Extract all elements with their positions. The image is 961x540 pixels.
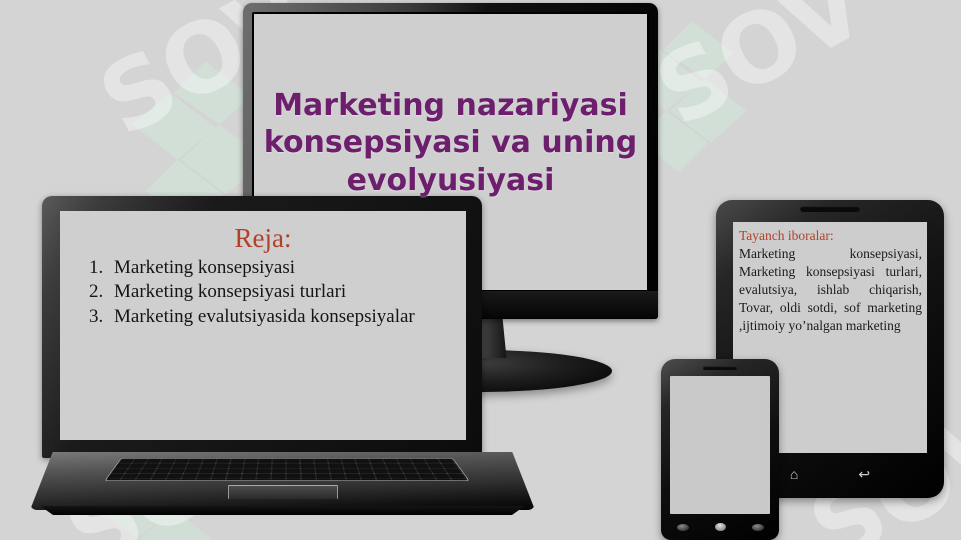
laptop-front-edge [33,506,532,515]
list-item: Marketing konsepsiyasi [108,256,452,280]
phone-navigation-bar [661,520,779,534]
phone-screen [670,376,770,514]
tayanch-heading: Tayanch iboralar: [739,228,922,244]
tablet-speaker [800,206,860,212]
laptop-trackpad[interactable] [228,485,338,499]
back-icon[interactable]: ↩ [858,467,870,481]
back-button[interactable] [752,524,764,531]
list-item: Marketing evalutsiyasida konsepsiyalar [108,305,452,329]
list-item: Marketing konsepsiyasi turlari [108,280,452,304]
reja-list: Marketing konsepsiyasi Marketing konseps… [74,256,452,329]
phone-speaker [703,366,737,370]
slide-canvas: SOV SOV SOV SOV Marketing nazariyasi kon… [0,0,961,540]
tayanch-body: Marketing konsepsiyasi, Marketing konsep… [739,245,922,335]
laptop-keyboard[interactable] [106,459,468,481]
watermark-text-topright: SOV [647,0,874,133]
slide-title: Marketing nazariyasi konsepsiyasi va uni… [262,87,639,199]
home-icon[interactable]: ⌂ [790,467,798,481]
phone-bezel [661,359,779,540]
menu-button[interactable] [677,524,689,531]
home-button[interactable] [715,523,726,531]
reja-heading: Reja: [74,223,452,254]
laptop-screen: Reja: Marketing konsepsiyasi Marketing k… [60,211,466,440]
laptop-lid: Reja: Marketing konsepsiyasi Marketing k… [42,196,482,458]
laptop: Reja: Marketing konsepsiyasi Marketing k… [30,196,535,526]
smartphone [661,359,779,540]
